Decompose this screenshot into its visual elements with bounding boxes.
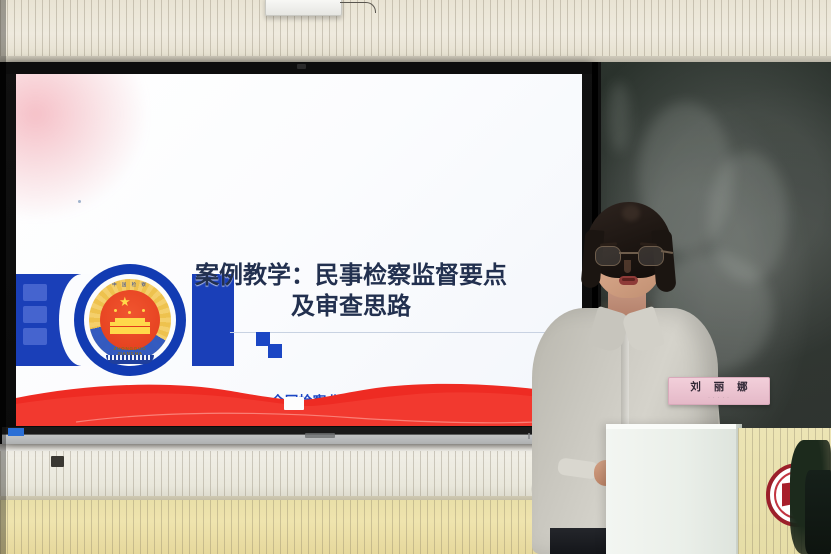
nameplate-name-text: 刘 丽 娜 (685, 382, 752, 393)
lens-right (638, 246, 664, 266)
slide-title: 案例教学：民事检察监督要点 及审查思路 (136, 260, 566, 321)
slide-title-divider (230, 332, 560, 333)
slide-blue-tile (23, 328, 47, 345)
hair-part-highlight (622, 205, 640, 221)
slide-pink-wash-decor (16, 74, 146, 219)
slide-speck (78, 200, 81, 203)
slide-title-line-2: 及审查思路 (136, 291, 566, 322)
podium-nameplate: 刘 丽 娜 · · · · · (668, 377, 770, 405)
emblem-base-teeth-decor (108, 355, 152, 360)
screen-brand-mark (305, 433, 335, 438)
presenter-mouth-inner (622, 278, 635, 281)
presentation-slide[interactable]: 中 国 检 察 ★ ZHONGGUO JIANCHA 案例教学：民事检察监督要点… (16, 74, 582, 426)
foreground-plant-stem (805, 470, 831, 554)
upper-wall-panel (0, 0, 831, 62)
ceiling-mounted-speaker-unit (265, 0, 342, 16)
emblem-small-star-icon (114, 309, 117, 312)
emblem-star-icon: ★ (119, 295, 131, 308)
slide-title-line-1: 案例教学：民事检察监督要点 (136, 260, 566, 291)
slide-page-marker (284, 397, 304, 410)
slide-blue-tile (23, 306, 47, 323)
ceiling-cable (340, 2, 376, 13)
power-led-indicator (8, 428, 24, 436)
presenter-nose (624, 260, 631, 273)
glasses-bridge (619, 252, 638, 254)
screenshot-canvas: 中 国 检 察 ★ ZHONGGUO JIANCHA 案例教学：民事检察监督要点… (0, 0, 831, 554)
slide-blue-tile (23, 284, 47, 301)
lens-left (595, 246, 621, 266)
wall-slat-texture (0, 0, 831, 62)
slide-decor-square (268, 344, 282, 358)
emblem-small-star-icon (128, 311, 131, 314)
podium-top-surface (606, 424, 740, 429)
smart-screen-frame-bottom (2, 427, 598, 444)
podium-lectern (606, 424, 740, 554)
wall-socket (51, 456, 64, 467)
emblem-tiananmen-gate-icon (110, 322, 150, 334)
nameplate-subtext: · · · · · (708, 395, 730, 400)
left-edge-vignette (0, 0, 6, 554)
camera-sensor-icon (297, 64, 306, 69)
